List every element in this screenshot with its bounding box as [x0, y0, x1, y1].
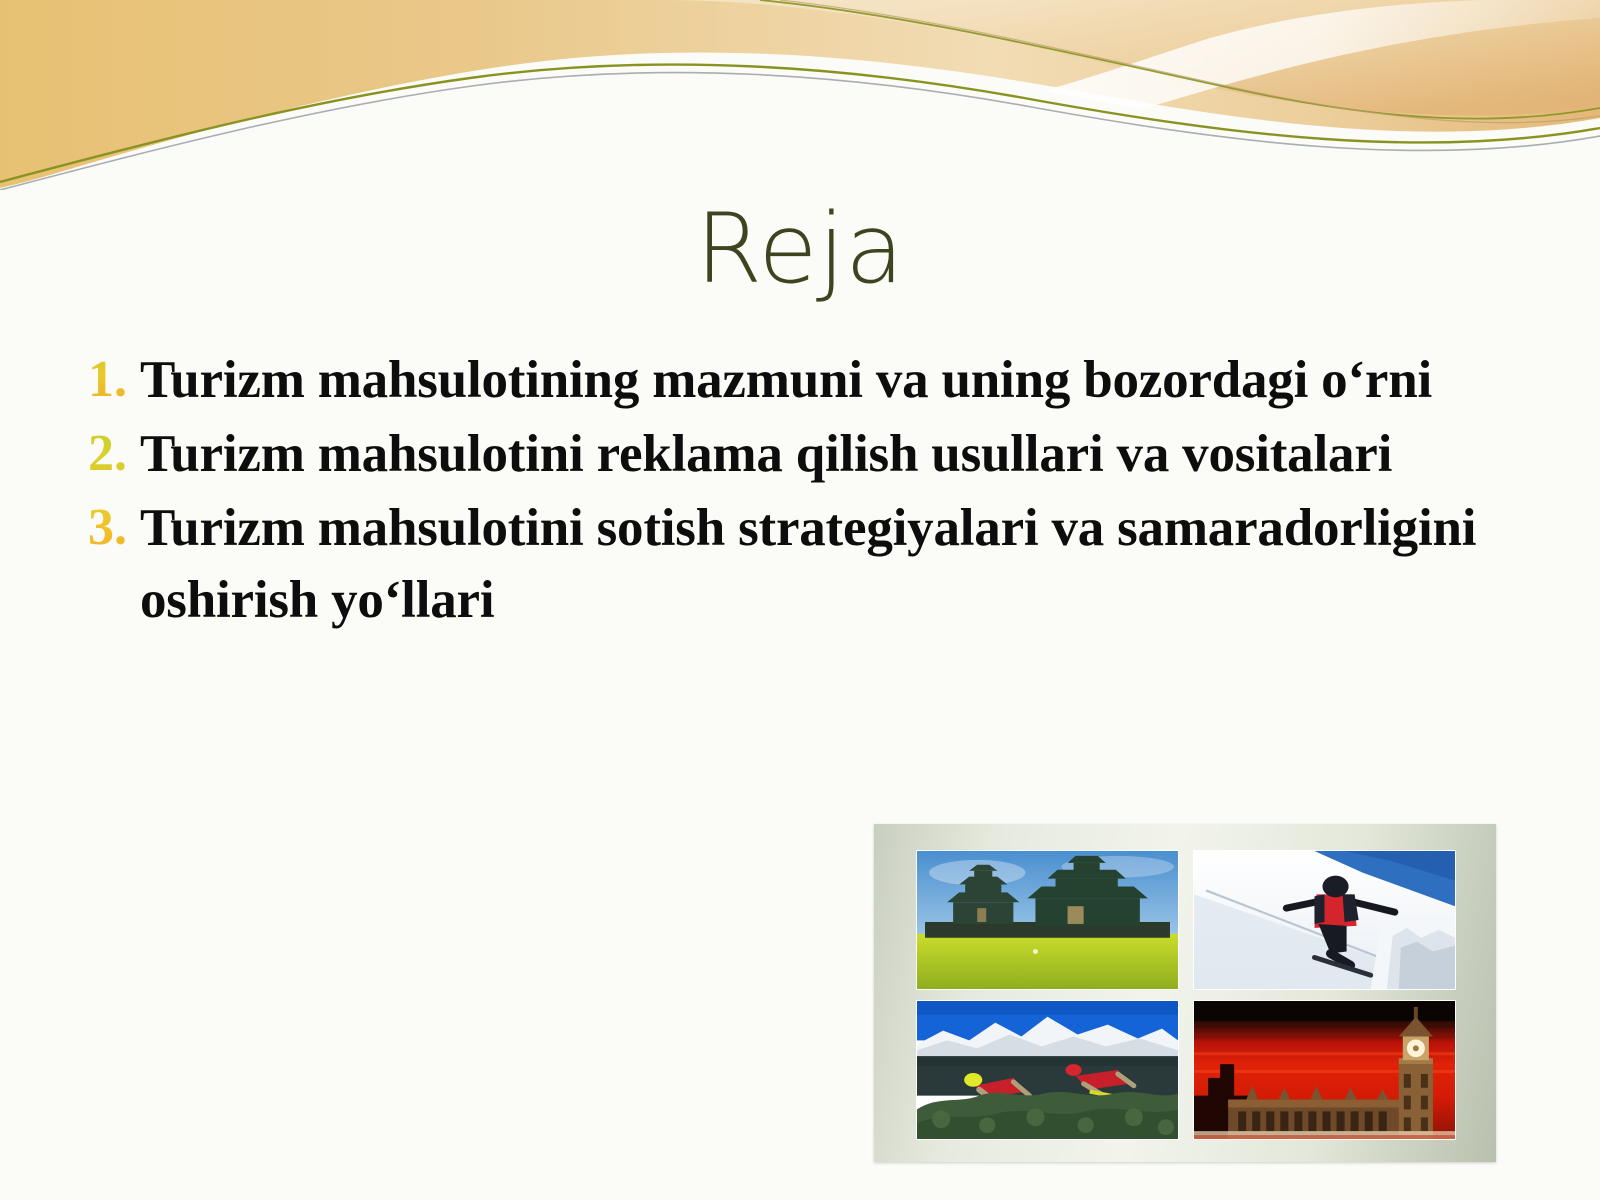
reja-list: 1. Turizm mahsulotining mazmuni va uning… [88, 344, 1508, 638]
list-item: 1. Turizm mahsulotining mazmuni va uning… [88, 344, 1508, 416]
cyclists-mountain-photo [916, 1000, 1179, 1140]
list-item-number: 2. [88, 418, 140, 490]
presentation-slide: Reja 1. Turizm mahsulotining mazmuni va … [0, 0, 1600, 1200]
list-item: 2. Turizm mahsulotini reklama qilish usu… [88, 418, 1508, 490]
list-item-number: 1. [88, 344, 140, 416]
list-item-label: Turizm mahsulotini reklama qilish usulla… [140, 418, 1508, 490]
big-ben-night-photo [1193, 1000, 1456, 1140]
flow-ribbon-banner [0, 0, 1600, 190]
list-item-number: 3. [88, 492, 140, 564]
collage-grid [916, 850, 1456, 1140]
list-item-label: Turizm mahsulotini sotish strategiyalari… [140, 492, 1508, 636]
snowboarder-photo [1193, 850, 1456, 990]
list-item-label: Turizm mahsulotining mazmuni va uning bo… [140, 344, 1508, 416]
photo-collage [874, 824, 1496, 1162]
japanese-castle-photo [916, 850, 1179, 990]
list-item: 3. Turizm mahsulotini sotish strategiyal… [88, 492, 1508, 636]
slide-title: Reja [0, 198, 1600, 302]
